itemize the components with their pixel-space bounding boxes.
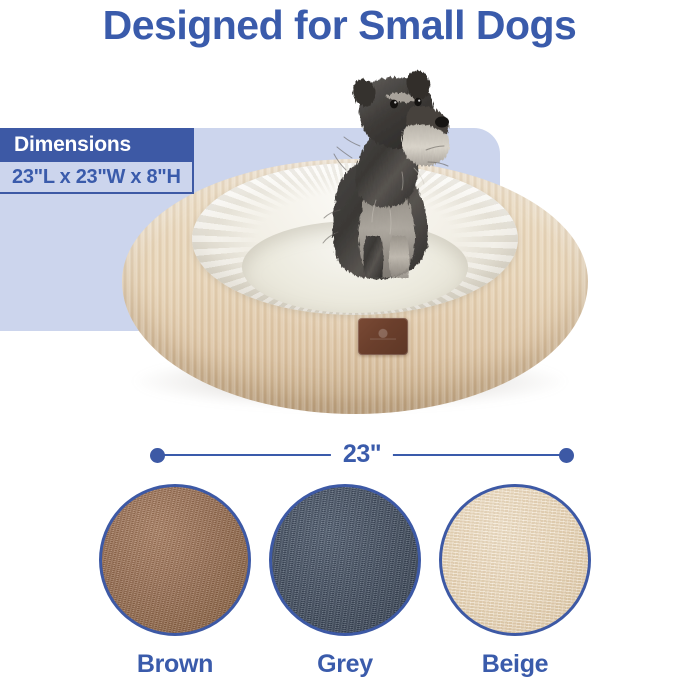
page-title: Designed for Small Dogs (0, 2, 679, 49)
color-option-beige[interactable]: Beige (435, 484, 595, 684)
dimensions-header-label: Dimensions (14, 133, 131, 157)
fabric-texture (442, 487, 588, 633)
product-image (100, 45, 600, 435)
width-measurement: 23" (150, 440, 574, 470)
measurement-endpoint-left-dot (150, 448, 165, 463)
fabric-texture (102, 487, 248, 633)
measurement-endpoint-right-dot (559, 448, 574, 463)
swatch-disc-beige[interactable] (439, 484, 591, 636)
dimensions-header: Dimensions (0, 128, 194, 162)
color-option-label: Grey (317, 650, 373, 679)
color-option-label: Beige (482, 650, 549, 679)
measurement-label: 23" (331, 438, 393, 470)
color-option-grey[interactable]: Grey (265, 484, 425, 684)
color-option-brown[interactable]: Brown (95, 484, 255, 684)
dimensions-value-row: 23"L x 23"W x 8"H (0, 162, 194, 194)
product-infographic: Designed for Small Dogs (0, 0, 679, 689)
color-option-label: Brown (137, 650, 213, 679)
color-options: Brown Grey Beige (95, 484, 595, 684)
dimensions-value: 23"L x 23"W x 8"H (12, 166, 181, 189)
brand-leather-logo-patch (358, 318, 408, 355)
fabric-texture (272, 487, 418, 633)
swatch-disc-brown[interactable] (99, 484, 251, 636)
swatch-disc-grey[interactable] (269, 484, 421, 636)
miniature-schnauzer-dog (316, 50, 466, 280)
